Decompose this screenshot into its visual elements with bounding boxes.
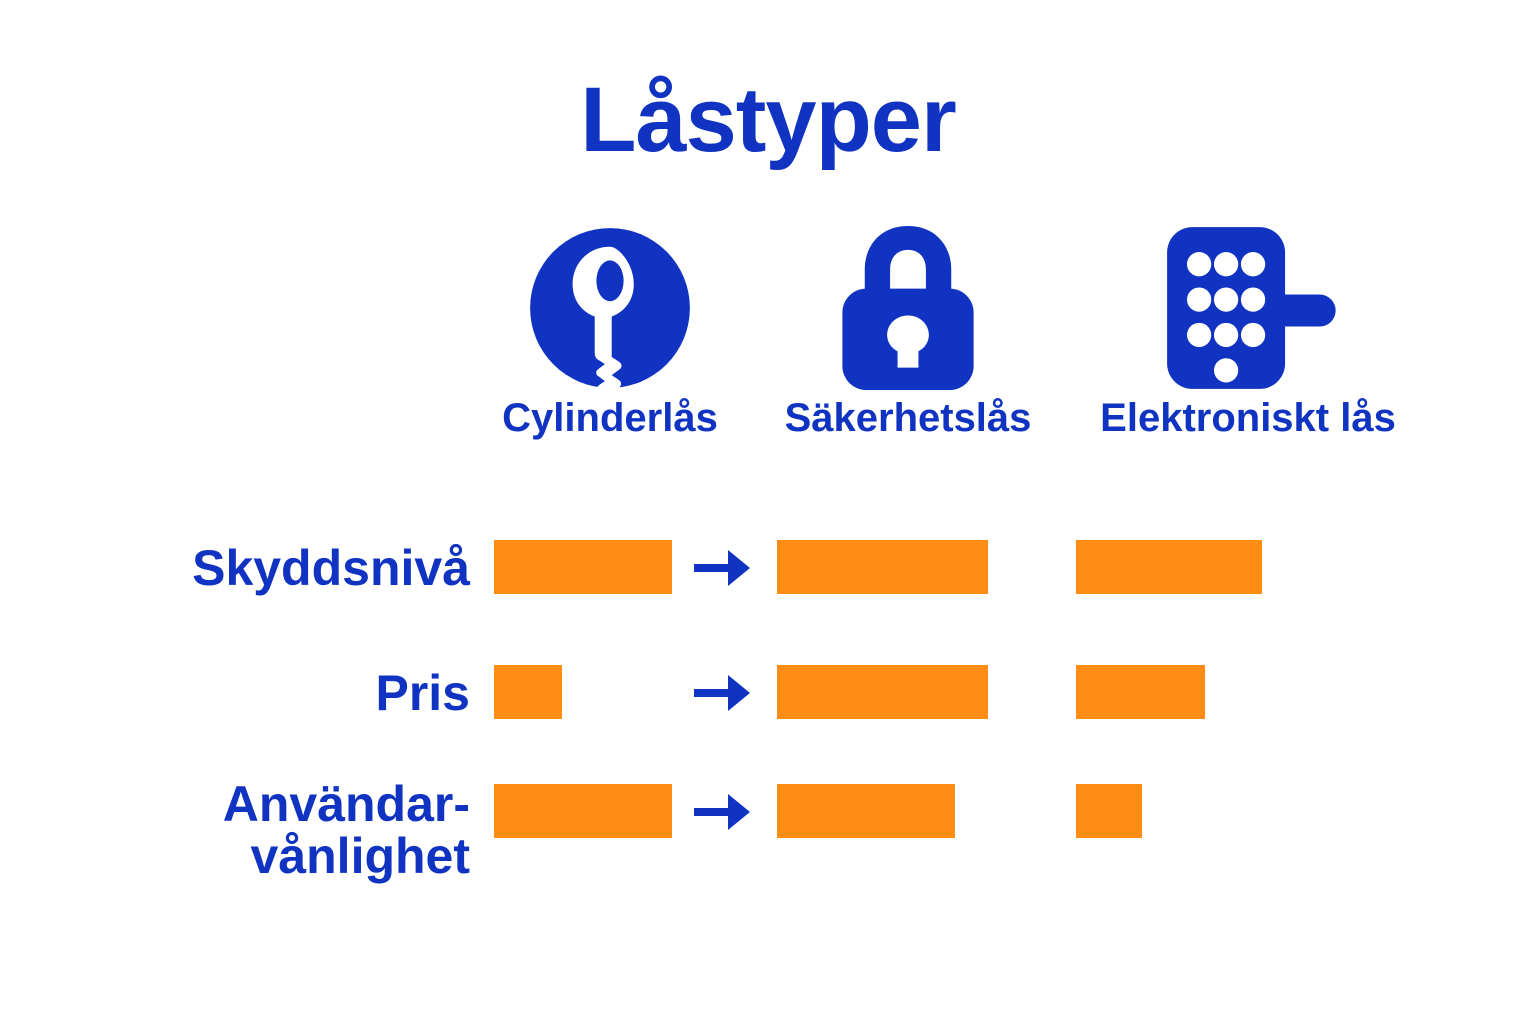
row-label: Skyddsnivå [60, 542, 470, 594]
bar-sakerhetslas [777, 784, 955, 838]
right-arrow-icon [692, 669, 752, 717]
page-title: Låstyper [0, 72, 1536, 169]
right-arrow-icon [692, 544, 752, 592]
bar-elektroniskt-las [1076, 665, 1205, 719]
row-label-line1: Användar- [60, 778, 470, 830]
bar-cylinderlas [494, 784, 672, 838]
electronic-keypad-lock-icon [1066, 218, 1430, 398]
table-row: Pris [0, 643, 1536, 763]
bar-sakerhetslas [777, 665, 988, 719]
bar-elektroniskt-las [1076, 540, 1262, 594]
row-label-line2: vånlighet [60, 830, 470, 882]
lock-types-infographic: Låstyper Cylinderlås Säkerhetslås [0, 0, 1536, 1024]
bar-sakerhetslas [777, 540, 988, 594]
column-label: Säkerhetslås [758, 398, 1058, 438]
bar-cylinderlas [494, 665, 562, 719]
padlock-icon [758, 218, 1058, 398]
column-elektroniskt-las: Elektroniskt lås [1066, 218, 1430, 488]
right-arrow-icon [692, 788, 752, 836]
table-row: Användar- vånlighet [0, 766, 1536, 886]
cylinder-lock-icon [470, 218, 750, 398]
table-row: Skyddsnivå [0, 520, 1536, 640]
column-cylinderlas: Cylinderlås [470, 218, 750, 488]
row-label: Pris [60, 667, 470, 719]
column-sakerhetslas: Säkerhetslås [758, 218, 1058, 488]
bar-cylinderlas [494, 540, 672, 594]
bar-elektroniskt-las [1076, 784, 1142, 838]
row-label: Användar- vånlighet [60, 778, 470, 882]
column-label: Elektroniskt lås [1066, 398, 1430, 438]
column-label: Cylinderlås [470, 398, 750, 438]
column-headers: Cylinderlås Säkerhetslås [470, 218, 1430, 488]
